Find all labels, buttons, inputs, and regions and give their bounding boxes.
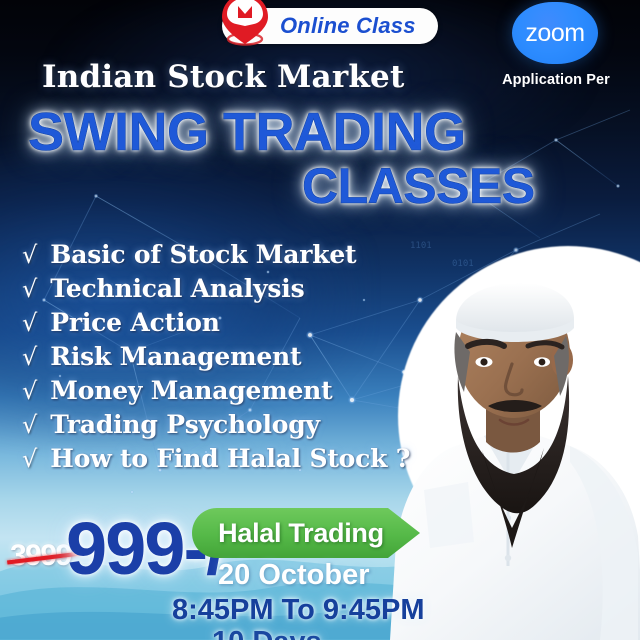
- list-item-label: Price Action: [50, 308, 219, 337]
- event-date: 20 October: [218, 559, 370, 592]
- platform-caption: Application Per: [496, 72, 616, 88]
- zoom-logo-label: zoom: [525, 19, 584, 48]
- page-kicker: Indian Stock Market: [42, 59, 405, 95]
- promo-poster: 1011 0110 1101 0101: [0, 0, 640, 640]
- page-title-line2: CLASSES: [302, 157, 535, 215]
- list-item-label: How to Find Halal Stock ?: [50, 444, 410, 473]
- check-icon: √: [22, 447, 37, 471]
- list-item: √ Trading Psychology: [22, 410, 402, 444]
- check-icon: √: [22, 277, 37, 301]
- list-item-label: Money Management: [50, 376, 332, 405]
- event-duration-cutoff: 10 Days: [212, 626, 322, 640]
- list-item: √ Price Action: [22, 308, 402, 342]
- map-pin-icon: [216, 0, 274, 48]
- check-icon: √: [22, 413, 37, 437]
- online-class-label: Online Class: [280, 13, 416, 39]
- page-title-line1: SWING TRADING: [28, 101, 465, 163]
- halal-trading-label: Halal Trading: [206, 508, 396, 558]
- list-item-label: Basic of Stock Market: [50, 240, 356, 269]
- list-item: √ Money Management: [22, 376, 402, 410]
- list-item-label: Risk Management: [50, 342, 301, 371]
- list-item-label: Trading Psychology: [50, 410, 320, 439]
- list-item: √ Basic of Stock Market: [22, 240, 402, 274]
- check-icon: √: [22, 379, 37, 403]
- event-time: 8:45PM To 9:45PM: [172, 594, 424, 627]
- check-icon: √: [22, 243, 37, 267]
- list-item-label: Technical Analysis: [50, 274, 304, 303]
- list-item: √ Technical Analysis: [22, 274, 402, 308]
- check-icon: √: [22, 311, 37, 335]
- list-item: √ Risk Management: [22, 342, 402, 376]
- feature-list: √ Basic of Stock Market √ Technical Anal…: [22, 240, 402, 478]
- check-icon: √: [22, 345, 37, 369]
- presenter-photo: [372, 236, 640, 640]
- list-item: √ How to Find Halal Stock ?: [22, 444, 402, 478]
- zoom-logo[interactable]: zoom: [512, 2, 598, 64]
- original-price: 3999: [10, 539, 71, 573]
